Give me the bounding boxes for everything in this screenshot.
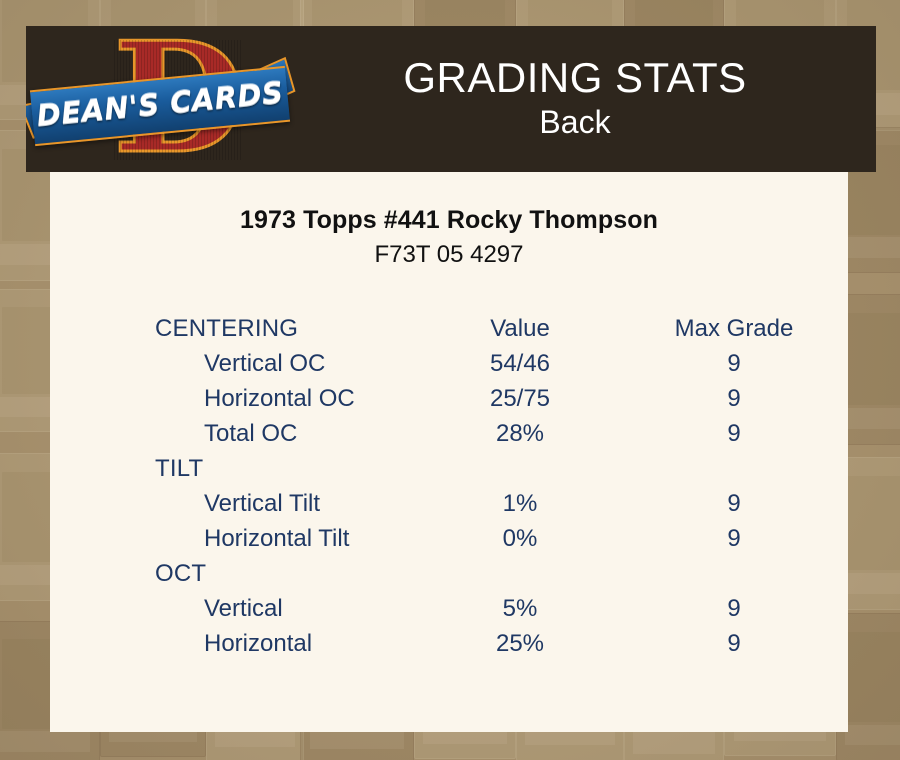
table-header-row: CENTERING Value Max Grade [50, 311, 848, 346]
background-card-watermark-inner [847, 632, 900, 723]
row-label: Horizontal OC [50, 381, 420, 416]
row-max-grade: 9 [620, 381, 848, 416]
row-label: Vertical Tilt [50, 486, 420, 521]
row-label: Horizontal [50, 626, 420, 661]
background-card-watermark-band [845, 573, 900, 594]
row-label: Vertical OC [50, 346, 420, 381]
section-spacer-value [420, 451, 620, 486]
column-header-centering: CENTERING [50, 311, 420, 346]
section-row: OCT [50, 556, 848, 591]
background-card-watermark-band [845, 725, 900, 745]
table-body: Vertical OC54/469Horizontal OC25/759Tota… [50, 346, 848, 661]
row-value: 0% [420, 521, 620, 556]
background-card-watermark-band [845, 408, 900, 429]
row-max-grade: 9 [620, 416, 848, 451]
page-title: GRADING STATS [294, 56, 856, 101]
background-card-watermark-inner [847, 476, 900, 570]
section-spacer-grade [620, 556, 848, 591]
background-card-watermark-band [845, 237, 900, 257]
page-subtitle: Back [294, 102, 856, 142]
row-max-grade: 9 [620, 626, 848, 661]
row-label: Horizontal Tilt [50, 521, 420, 556]
row-max-grade: 9 [620, 591, 848, 626]
background-card-watermark-band [0, 731, 90, 751]
card-title: 1973 Topps #441 Rocky Thompson [50, 206, 848, 235]
row-label: Total OC [50, 416, 420, 451]
header-bar: D DEAN'S CARDS GRADING STATS Back [26, 26, 876, 172]
table-row: Vertical OC54/469 [50, 346, 848, 381]
row-value: 5% [420, 591, 620, 626]
section-spacer-grade [620, 451, 848, 486]
table-row: Vertical5%9 [50, 591, 848, 626]
row-value: 25% [420, 626, 620, 661]
section-label: OCT [50, 556, 420, 591]
section-spacer-value [420, 556, 620, 591]
background-card-watermark-band [633, 732, 715, 753]
section-row: TILT [50, 451, 848, 486]
table-row: Horizontal25%9 [50, 626, 848, 661]
row-max-grade: 9 [620, 521, 848, 556]
row-value: 25/75 [420, 381, 620, 416]
row-max-grade: 9 [620, 346, 848, 381]
table-row: Vertical Tilt1%9 [50, 486, 848, 521]
card-serial-number: F73T 05 4297 [50, 241, 848, 269]
table-row: Horizontal Tilt0%9 [50, 521, 848, 556]
grading-stats-table: CENTERING Value Max Grade Vertical OC54/… [50, 311, 848, 661]
background-card-watermark-inner [847, 313, 900, 405]
row-label: Vertical [50, 591, 420, 626]
table-row: Total OC28%9 [50, 416, 848, 451]
row-value: 54/46 [420, 346, 620, 381]
section-label: TILT [50, 451, 420, 486]
column-header-value: Value [420, 311, 620, 346]
row-max-grade: 9 [620, 486, 848, 521]
header-titles: GRADING STATS Back [294, 56, 876, 143]
deans-cards-logo[interactable]: D DEAN'S CARDS [26, 26, 294, 172]
table-row: Horizontal OC25/759 [50, 381, 848, 416]
table-header: CENTERING Value Max Grade [50, 311, 848, 346]
column-header-max-grade: Max Grade [620, 311, 848, 346]
content-panel: 1973 Topps #441 Rocky Thompson F73T 05 4… [50, 172, 848, 732]
row-value: 1% [420, 486, 620, 521]
row-value: 28% [420, 416, 620, 451]
